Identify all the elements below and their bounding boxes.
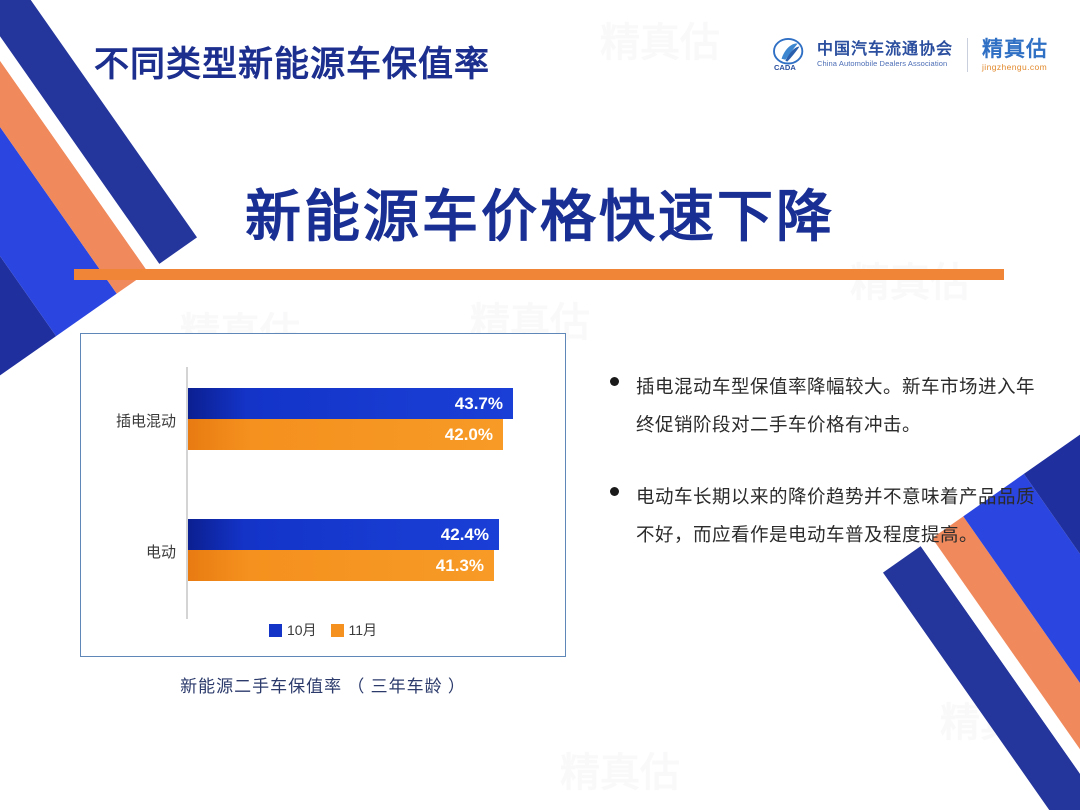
- chart-legend: 10月 11月: [81, 620, 565, 640]
- chart-category-label: 电动: [56, 541, 176, 562]
- page-title: 不同类型新能源车保值率: [94, 36, 490, 87]
- jzg-url: jingzhengu.com: [982, 63, 1048, 72]
- cada-logo-text: 中国汽车流通协会 China Automobile Dealers Associ…: [817, 42, 953, 69]
- legend-label: 11月: [349, 620, 378, 640]
- watermark-text: 精真估: [940, 690, 1060, 748]
- chart-bar-value: 42.4%: [441, 525, 489, 545]
- cada-name-cn: 中国汽车流通协会: [817, 42, 953, 59]
- list-item: 电动车长期以来的降价趋势并不意味着产品品质不好，而应看作是电动车普及程度提高。: [610, 478, 1042, 554]
- chart-bar-pluginhybrid-nov[interactable]: 42.0%: [188, 419, 503, 450]
- logo-divider: [967, 38, 968, 72]
- legend-swatch-blue: [269, 624, 282, 637]
- cada-name-en: China Automobile Dealers Association: [817, 60, 953, 68]
- bullet-dot-icon: [610, 377, 619, 386]
- chart-bar-ev-nov[interactable]: 41.3%: [188, 550, 494, 581]
- chart-bar-value: 41.3%: [436, 556, 484, 576]
- chart-bar-ev-oct[interactable]: 42.4%: [188, 519, 499, 550]
- jzg-name-cn: 精真估: [982, 39, 1048, 61]
- divider-bar: [74, 269, 1004, 280]
- chart-caption: 新能源二手车保值率 （ 三年车龄 ）: [80, 672, 566, 697]
- bullet-dot-icon: [610, 487, 619, 496]
- legend-item-oct[interactable]: 10月: [269, 620, 317, 640]
- headline: 新能源车价格快速下降: [0, 172, 1080, 253]
- watermark-text: 精真估: [560, 740, 680, 798]
- legend-label: 10月: [287, 620, 317, 640]
- jingzhengu-logo: 精真估 jingzhengu.com: [982, 39, 1048, 72]
- legend-swatch-orange: [331, 624, 344, 637]
- chart-panel: 插电混动 43.7% 42.0% 电动 42.4% 41.3%: [80, 333, 566, 657]
- bullet-text: 插电混动车型保值率降幅较大。新车市场进入年终促销阶段对二手车价格有冲击。: [636, 368, 1042, 444]
- chart-plot-area: 插电混动 43.7% 42.0% 电动 42.4% 41.3%: [81, 334, 565, 656]
- bullet-list: 插电混动车型保值率降幅较大。新车市场进入年终促销阶段对二手车价格有冲击。 电动车…: [610, 368, 1042, 588]
- cada-emblem-icon: CADA: [772, 38, 810, 72]
- chart-bar-value: 43.7%: [455, 394, 503, 414]
- chart-bar-value: 42.0%: [445, 425, 493, 445]
- chart-bar-pluginhybrid-oct[interactable]: 43.7%: [188, 388, 513, 419]
- svg-text:CADA: CADA: [774, 63, 796, 72]
- slide: 精真估 精真估 精真估 精真估 精真估 精真估 精真估 不同类型新能源车保值率: [0, 0, 1080, 810]
- list-item: 插电混动车型保值率降幅较大。新车市场进入年终促销阶段对二手车价格有冲击。: [610, 368, 1042, 444]
- chart-category-label: 插电混动: [56, 410, 176, 431]
- legend-item-nov[interactable]: 11月: [331, 620, 378, 640]
- cada-logo: CADA 中国汽车流通协会 China Automobile Dealers A…: [772, 38, 953, 72]
- bullet-text: 电动车长期以来的降价趋势并不意味着产品品质不好，而应看作是电动车普及程度提高。: [636, 478, 1042, 554]
- logo-group: CADA 中国汽车流通协会 China Automobile Dealers A…: [772, 38, 1048, 72]
- slide-header: 不同类型新能源车保值率 CADA 中国汽车流通协会 China Automobi…: [0, 0, 1080, 110]
